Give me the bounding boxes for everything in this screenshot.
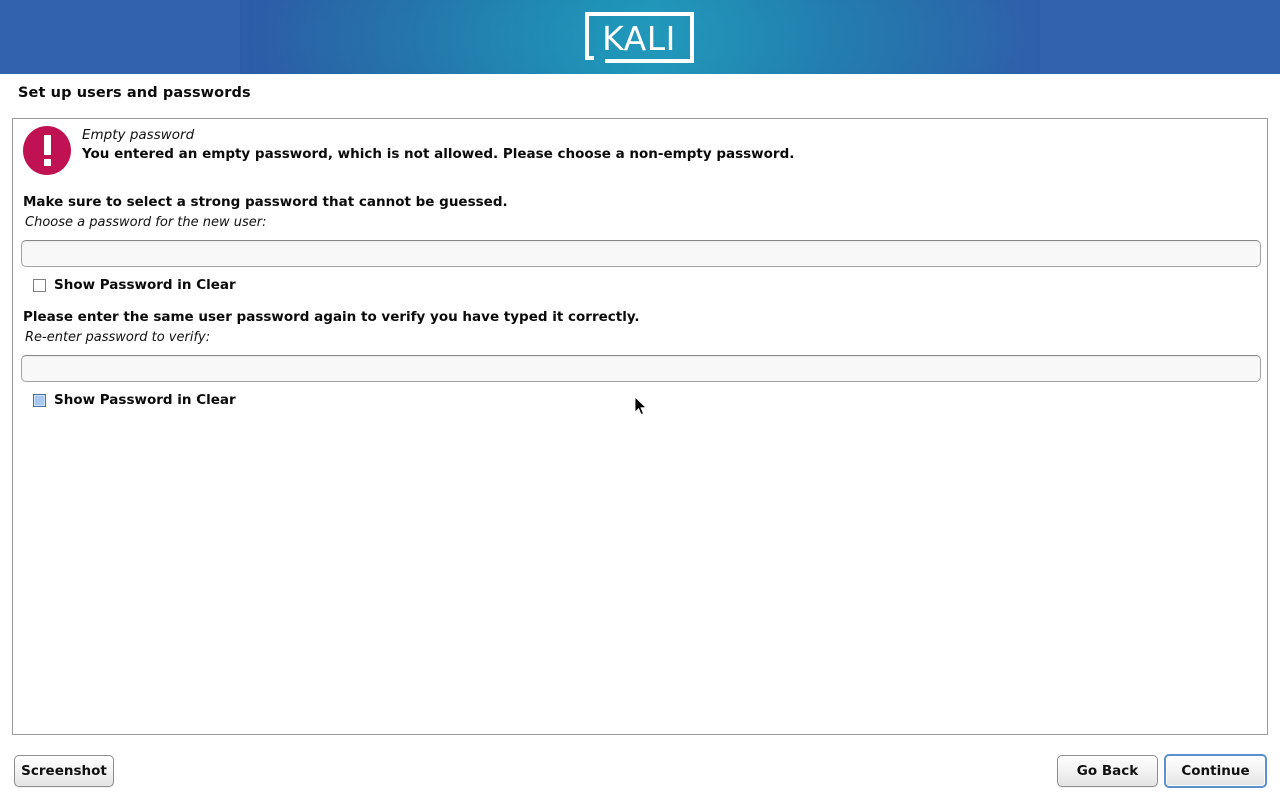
show-password-in-clear-row-2[interactable]: Show Password in Clear [33,392,236,408]
kali-banner: KALI [0,0,1280,74]
error-exclamation-icon [23,126,71,175]
error-message-block: Empty password You entered an empty pass… [13,119,1267,185]
continue-button[interactable]: Continue [1164,754,1267,788]
password-field-label: Choose a password for the new user: [25,215,267,230]
installer-window: KALI Set up users and passwords Empty pa… [0,0,1280,800]
verify-password-input[interactable] [21,355,1261,382]
svg-text:KALI: KALI [602,19,676,58]
screenshot-button[interactable]: Screenshot [14,755,114,787]
main-content-panel: Empty password You entered an empty pass… [12,118,1268,735]
show-password-in-clear-row-1[interactable]: Show Password in Clear [33,277,236,293]
exclamation-bar [44,135,51,155]
show-password-in-clear-label-2: Show Password in Clear [54,392,236,408]
error-description: You entered an empty password, which is … [82,146,794,162]
password-strength-instruction: Make sure to select a strong password th… [23,194,508,210]
go-back-button[interactable]: Go Back [1057,755,1158,787]
kali-dragon-logo-icon: KALI [583,10,696,65]
exclamation-dot [44,159,51,166]
password-input[interactable] [21,240,1261,267]
error-title: Empty password [82,127,194,143]
verify-password-instruction: Please enter the same user password agai… [23,309,640,325]
show-password-in-clear-checkbox-2[interactable] [33,394,46,407]
verify-field-label: Re-enter password to verify: [25,330,210,345]
show-password-in-clear-checkbox-1[interactable] [33,279,46,292]
show-password-in-clear-label-1: Show Password in Clear [54,277,236,293]
page-title: Set up users and passwords [18,85,251,101]
